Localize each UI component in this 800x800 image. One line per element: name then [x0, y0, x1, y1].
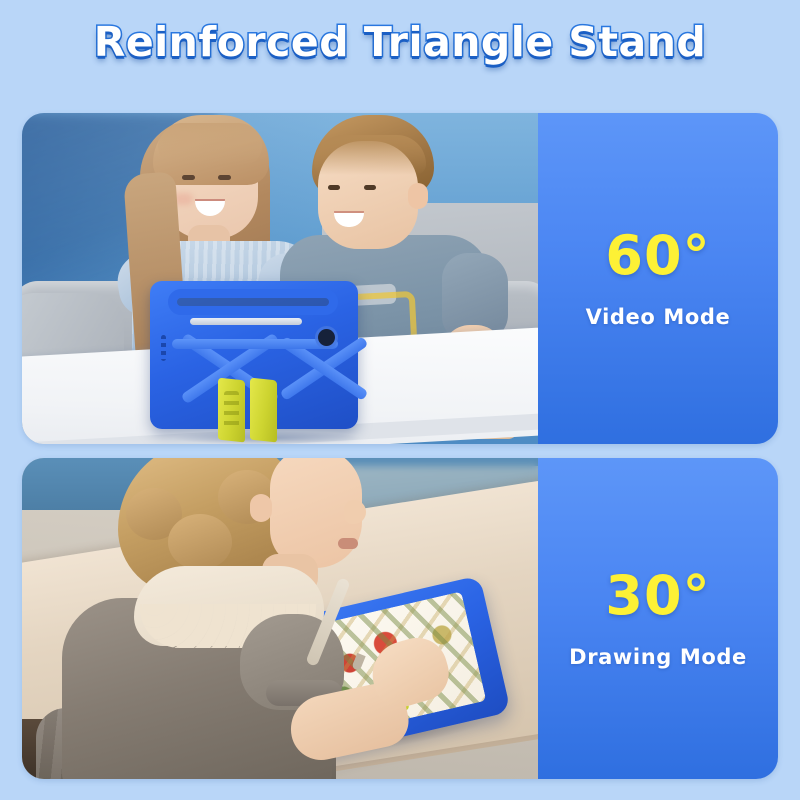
- page-title: Reinforced Triangle Stand: [0, 18, 800, 66]
- toddler-ear: [250, 494, 272, 522]
- angle-value-drawing: 30°: [605, 569, 710, 623]
- toddler-hair-curl-2: [168, 514, 232, 570]
- girl-fringe: [158, 123, 262, 165]
- label-panel-video-mode: 60° Video Mode: [538, 113, 778, 444]
- camera-cutout: [318, 329, 335, 346]
- angle-value-video: 60°: [605, 229, 710, 283]
- boy-fringe: [314, 135, 426, 175]
- label-panel-drawing-mode: 30° Drawing Mode: [538, 458, 778, 779]
- boy-eye-left: [328, 185, 340, 190]
- mode-label-drawing: Drawing Mode: [569, 645, 747, 669]
- mode-label-video: Video Mode: [586, 305, 731, 329]
- girl-eye-right: [218, 175, 231, 180]
- boy-ear: [408, 183, 428, 209]
- boy-eye-right: [364, 185, 376, 190]
- photo-kids-watching-tablet: [22, 113, 538, 444]
- kickstand-ridges: [224, 391, 239, 431]
- feature-card-video-mode: 60° Video Mode: [22, 113, 778, 444]
- photo-girl-drawing-tablet: [22, 458, 538, 779]
- toddler-lips: [338, 538, 358, 549]
- case-button-cutouts: [161, 335, 166, 361]
- case-carry-handle: [168, 289, 338, 315]
- feature-card-drawing-mode: 30° Drawing Mode: [22, 458, 778, 779]
- case-horizontal-rib: [172, 339, 338, 349]
- case-stylus-holder: [190, 318, 302, 325]
- kickstand-leg-right: [250, 378, 277, 443]
- girl-eye-left: [182, 175, 195, 180]
